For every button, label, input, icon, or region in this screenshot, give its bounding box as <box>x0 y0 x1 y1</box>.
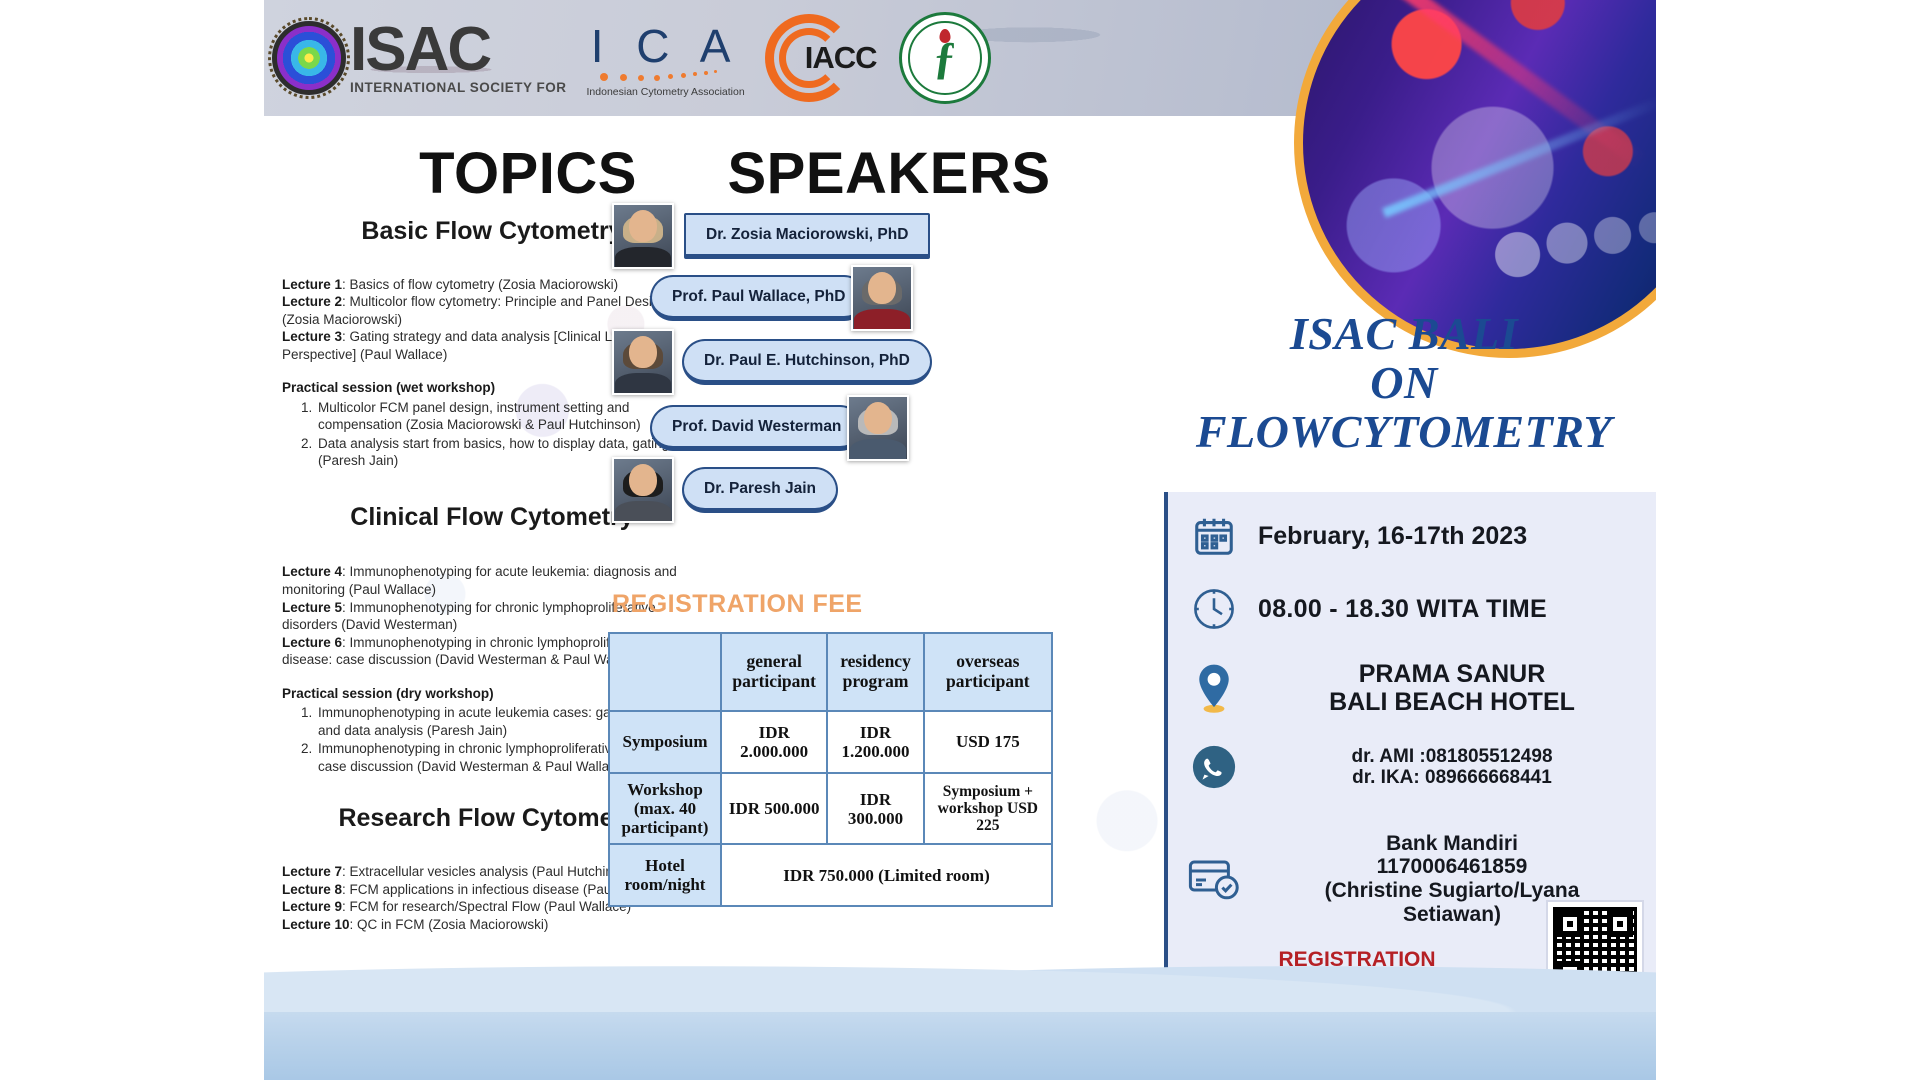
lecture-text: : QC in FCM (Zosia Maciorowski) <box>350 917 549 932</box>
ica-logo: I C A Indonesian Cytometry Association <box>587 19 745 98</box>
speaker-row: Dr. Zosia Maciorowski, PhD <box>612 205 930 267</box>
fee-cell: IDR 2.000.000 <box>721 711 827 773</box>
event-title: ISAC BALI ON FLOWCYTOMETRY <box>1164 310 1644 456</box>
bank-holder-line1: (Christine Sugiarto/Lyana <box>1258 879 1646 903</box>
isac-badge-icon <box>272 21 346 95</box>
lecture-label: Lecture 9 <box>282 899 342 914</box>
bank-name: Bank Mandiri <box>1258 832 1646 856</box>
contact-ami: dr. AMI :081805512498 <box>1258 746 1646 767</box>
bank-account: 1170006461859 <box>1258 855 1646 879</box>
lecture-label: Lecture 2 <box>282 294 342 309</box>
column-header-general: general participant <box>721 633 827 711</box>
iacc-wordmark: IACC <box>805 40 877 76</box>
poster-artboard: ISAC INTERNATIONAL SOCIETY FOR I C A <box>264 0 1656 1080</box>
info-row-date: February, 16-17th 2023 <box>1168 500 1656 572</box>
info-row-contact: dr. AMI :081805512498 dr. IKA: 089666668… <box>1168 730 1656 804</box>
table-corner-cell <box>609 633 721 711</box>
column-header-residency: residency program <box>827 633 923 711</box>
fee-cell: Symposium + workshop USD 225 <box>924 773 1052 844</box>
fee-cell: USD 175 <box>924 711 1052 773</box>
speaker-name-pill: Dr. Paul E. Hutchinson, PhD <box>682 339 932 385</box>
isac-logo: ISAC INTERNATIONAL SOCIETY FOR <box>272 21 567 95</box>
speaker-photo <box>612 203 674 269</box>
speaker-name-pill: Prof. David Westerman <box>650 405 863 451</box>
event-date: February, 16-17th 2023 <box>1258 522 1527 550</box>
iacc-logo: IACC <box>765 10 885 106</box>
speaker-photo <box>847 395 909 461</box>
table-row: Symposium IDR 2.000.000 IDR 1.200.000 US… <box>609 711 1052 773</box>
lecture-text: : Extracellular vesicles analysis (Paul … <box>342 864 639 879</box>
event-title-line2: ON <box>1164 359 1644 408</box>
fee-cell: IDR 300.000 <box>827 773 923 844</box>
whatsapp-icon[interactable] <box>1186 744 1242 790</box>
fee-cell: IDR 1.200.000 <box>827 711 923 773</box>
lecture-label: Lecture 3 <box>282 329 342 344</box>
speaker-row: Dr. Paresh Jain <box>612 459 838 521</box>
lecture-label: Lecture 5 <box>282 600 342 615</box>
bottom-wave-decoration <box>264 992 1656 1080</box>
pds-patklin-logo: ƒ <box>899 12 991 104</box>
contact-ika: dr. IKA: 089666668441 <box>1258 767 1646 788</box>
poster-root: ISAC INTERNATIONAL SOCIETY FOR I C A <box>0 0 1920 1080</box>
row-label-workshop: Workshop (max. 40 participant) <box>609 773 721 844</box>
lecture-label: Lecture 6 <box>282 635 342 650</box>
speaker-name-pill: Prof. Paul Wallace, PhD <box>650 275 867 321</box>
venue-line2: BALI BEACH HOTEL <box>1258 688 1646 716</box>
laser-beam-red <box>1370 0 1646 168</box>
microscopy-hero-image <box>1294 0 1656 358</box>
left-margin <box>0 0 264 1080</box>
speakers-heading: SPEAKERS <box>694 140 1084 207</box>
calendar-icon <box>1186 513 1242 559</box>
event-time: 08.00 - 18.30 WITA TIME <box>1258 595 1547 623</box>
lecture-label: Lecture 1 <box>282 277 342 292</box>
event-venue: PRAMA SANUR BALI BEACH HOTEL <box>1258 660 1646 716</box>
speaker-photo <box>612 329 674 395</box>
qr-eye-topright <box>1607 911 1633 937</box>
event-info-panel: February, 16-17th 2023 08.00 - 18.30 WIT… <box>1164 492 1656 1002</box>
row-label-hotel: Hotel room/night <box>609 844 721 906</box>
speaker-photo <box>612 457 674 523</box>
location-pin-icon <box>1186 662 1242 714</box>
column-header-overseas: overseas participant <box>924 633 1052 711</box>
speaker-row: Prof. Paul Wallace, PhD <box>650 267 913 329</box>
payment-card-icon <box>1186 857 1242 901</box>
info-row-venue: PRAMA SANUR BALI BEACH HOTEL <box>1168 646 1656 730</box>
registration-fee-title: REGISTRATION FEE <box>612 590 863 619</box>
topics-heading: TOPICS <box>348 140 708 207</box>
pds-drop-icon <box>939 29 950 43</box>
lecture-label: Lecture 4 <box>282 564 342 579</box>
ica-wordmark: I C A <box>591 19 741 73</box>
qr-eye-topleft <box>1557 911 1583 937</box>
clock-icon <box>1186 585 1242 633</box>
registration-fee-table: general participant residency program ov… <box>608 632 1053 907</box>
lecture-text: : Basics of flow cytometry (Zosia Macior… <box>342 277 618 292</box>
speaker-name-pill: Dr. Zosia Maciorowski, PhD <box>684 213 930 259</box>
lecture-label: Lecture 7 <box>282 864 342 879</box>
isac-wordmark: ISAC <box>350 21 567 78</box>
ica-swoosh-icon <box>596 69 736 83</box>
speaker-photo <box>851 265 913 331</box>
isac-tagline: INTERNATIONAL SOCIETY FOR <box>350 80 567 95</box>
fee-cell: IDR 750.000 (Limited room) <box>721 844 1052 906</box>
contact-numbers: dr. AMI :081805512498 dr. IKA: 089666668… <box>1258 746 1646 789</box>
info-row-time: 08.00 - 18.30 WITA TIME <box>1168 572 1656 646</box>
fee-cell: IDR 500.000 <box>721 773 827 844</box>
table-row: Hotel room/night IDR 750.000 (Limited ro… <box>609 844 1052 906</box>
ica-tagline: Indonesian Cytometry Association <box>587 86 745 98</box>
table-row: Workshop (max. 40 participant) IDR 500.0… <box>609 773 1052 844</box>
lecture-text: : FCM for research/Spectral Flow (Paul W… <box>342 899 631 914</box>
speakers-column: Dr. Zosia Maciorowski, PhD Prof. Paul Wa… <box>612 205 942 515</box>
row-label-symposium: Symposium <box>609 711 721 773</box>
cell-chain <box>1491 197 1656 293</box>
event-title-line3: FLOWCYTOMETRY <box>1164 408 1644 457</box>
right-margin <box>1656 0 1920 1080</box>
table-header-row: general participant residency program ov… <box>609 633 1052 711</box>
lecture-label: Lecture 10 <box>282 917 350 932</box>
speaker-row: Dr. Paul E. Hutchinson, PhD <box>612 331 932 393</box>
lecture-label: Lecture 8 <box>282 882 342 897</box>
venue-line1: PRAMA SANUR <box>1258 660 1646 688</box>
speaker-row: Prof. David Westerman <box>650 397 909 459</box>
speaker-name-pill: Dr. Paresh Jain <box>682 467 838 513</box>
lecture-item: Lecture 10: QC in FCM (Zosia Maciorowski… <box>282 916 702 934</box>
event-title-line1: ISAC BALI <box>1164 310 1644 359</box>
